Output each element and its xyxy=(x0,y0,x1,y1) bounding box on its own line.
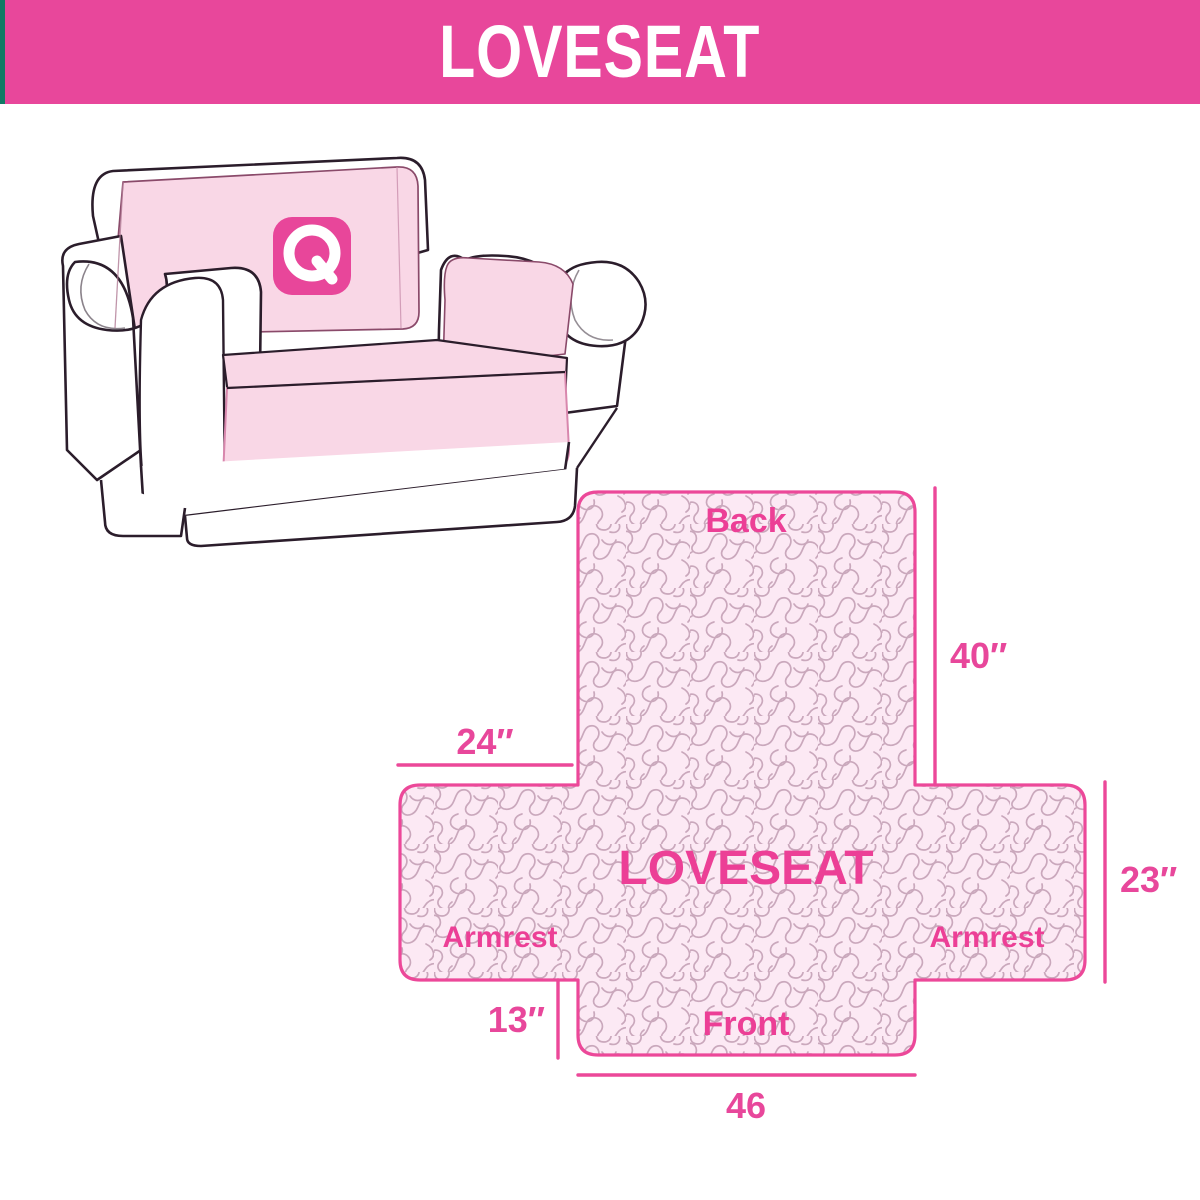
dimension-front-drop-label: 13″ xyxy=(488,999,545,1040)
page-header: LOVESEAT xyxy=(0,0,1200,104)
dimension-seat-depth-label: 23″ xyxy=(1120,859,1177,900)
cover-layout-diagram: Back LOVESEAT Armrest Armrest Front 40″ … xyxy=(370,460,1200,1140)
dimension-back-height-label: 40″ xyxy=(950,635,1007,676)
label-center-loveseat: LOVESEAT xyxy=(618,842,873,895)
page-title: LOVESEAT xyxy=(439,15,760,89)
dimension-overall-width: 46 xyxy=(578,1075,915,1126)
q-logo-badge xyxy=(273,217,351,295)
dimension-seat-depth: 23″ xyxy=(1105,782,1177,982)
label-back: Back xyxy=(705,502,786,540)
page-root: LOVESEAT xyxy=(0,0,1200,1200)
label-front: Front xyxy=(703,1005,790,1043)
dimension-armrest-width-label: 24″ xyxy=(456,721,513,762)
dimension-armrest-width: 24″ xyxy=(398,721,572,765)
label-armrest-right: Armrest xyxy=(929,921,1044,954)
cover-layout-diagram-svg: Back LOVESEAT Armrest Armrest Front 40″ … xyxy=(370,460,1200,1140)
cover-outline-shape xyxy=(400,492,1085,1055)
dimension-front-drop: 13″ xyxy=(488,980,558,1058)
dimension-back-height: 40″ xyxy=(935,488,1007,785)
header-accent-edge xyxy=(0,0,5,104)
dimension-overall-width-label: 46 xyxy=(726,1085,766,1126)
label-armrest-left: Armrest xyxy=(442,921,557,954)
